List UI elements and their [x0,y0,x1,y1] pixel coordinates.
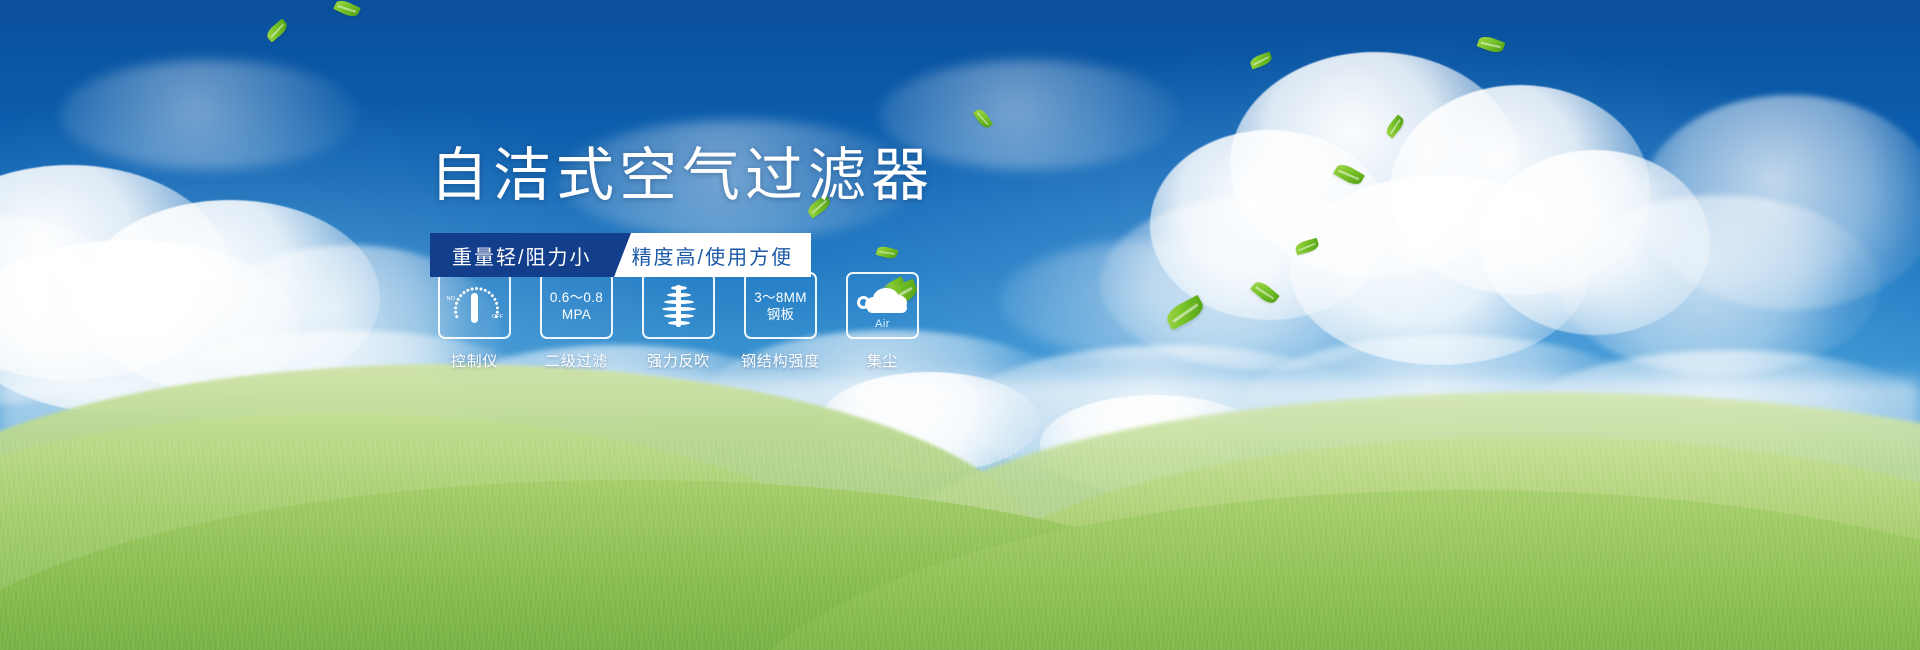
feature-icon-box [642,272,715,339]
steel-thickness: 3～8MM [754,289,807,306]
feature-label: 控制仪 [451,350,498,371]
air-label: Air [857,318,909,330]
feature-icon-box: Air [846,272,919,339]
feature-item-dust: Air 集尘 [846,272,919,371]
feature-list: NO OFF 控制仪 0.6～0.8 MPA 二级过滤 [438,272,919,371]
pressure-value: 0.6～0.8 [550,289,603,306]
feature-icon-box: 3～8MM 钢板 [744,272,817,339]
feature-label: 二级过滤 [545,350,608,371]
tag-label: 精度高/使用方便 [632,241,794,270]
feature-item-steel: 3～8MM 钢板 钢结构强度 [744,272,817,371]
air-cloud-icon: Air [857,284,909,328]
tag-weight-resistance: 重量轻/阻力小 [430,233,614,277]
tag-precision-ease: 精度高/使用方便 [600,233,812,277]
hero-banner: 自洁式空气过滤器 重量轻/阻力小 精度高/使用方便 NO OFF [0,0,1920,650]
feature-icon-box: 0.6～0.8 MPA [540,272,613,339]
steel-material: 钢板 [767,306,795,323]
feature-item-backflush: 强力反吹 [642,272,715,371]
feature-label: 强力反吹 [647,350,710,371]
gauge-off-label: OFF [492,314,504,320]
feature-label: 集尘 [867,350,899,371]
filter-stack-icon [659,283,699,329]
feature-item-controller: NO OFF 控制仪 [438,272,511,371]
feature-item-pressure: 0.6～0.8 MPA 二级过滤 [540,272,613,371]
pressure-unit: MPA [562,306,591,323]
banner-content: 自洁式空气过滤器 重量轻/阻力小 精度高/使用方便 NO OFF [0,0,1920,650]
tag-bar: 重量轻/阻力小 精度高/使用方便 [430,233,811,277]
tag-label: 重量轻/阻力小 [452,241,592,270]
feature-icon-box: NO OFF [438,272,511,339]
feature-label: 钢结构强度 [741,350,820,371]
banner-title: 自洁式空气过滤器 [430,147,934,205]
gauge-icon: NO OFF [448,284,502,328]
gauge-no-label: NO [447,296,456,302]
